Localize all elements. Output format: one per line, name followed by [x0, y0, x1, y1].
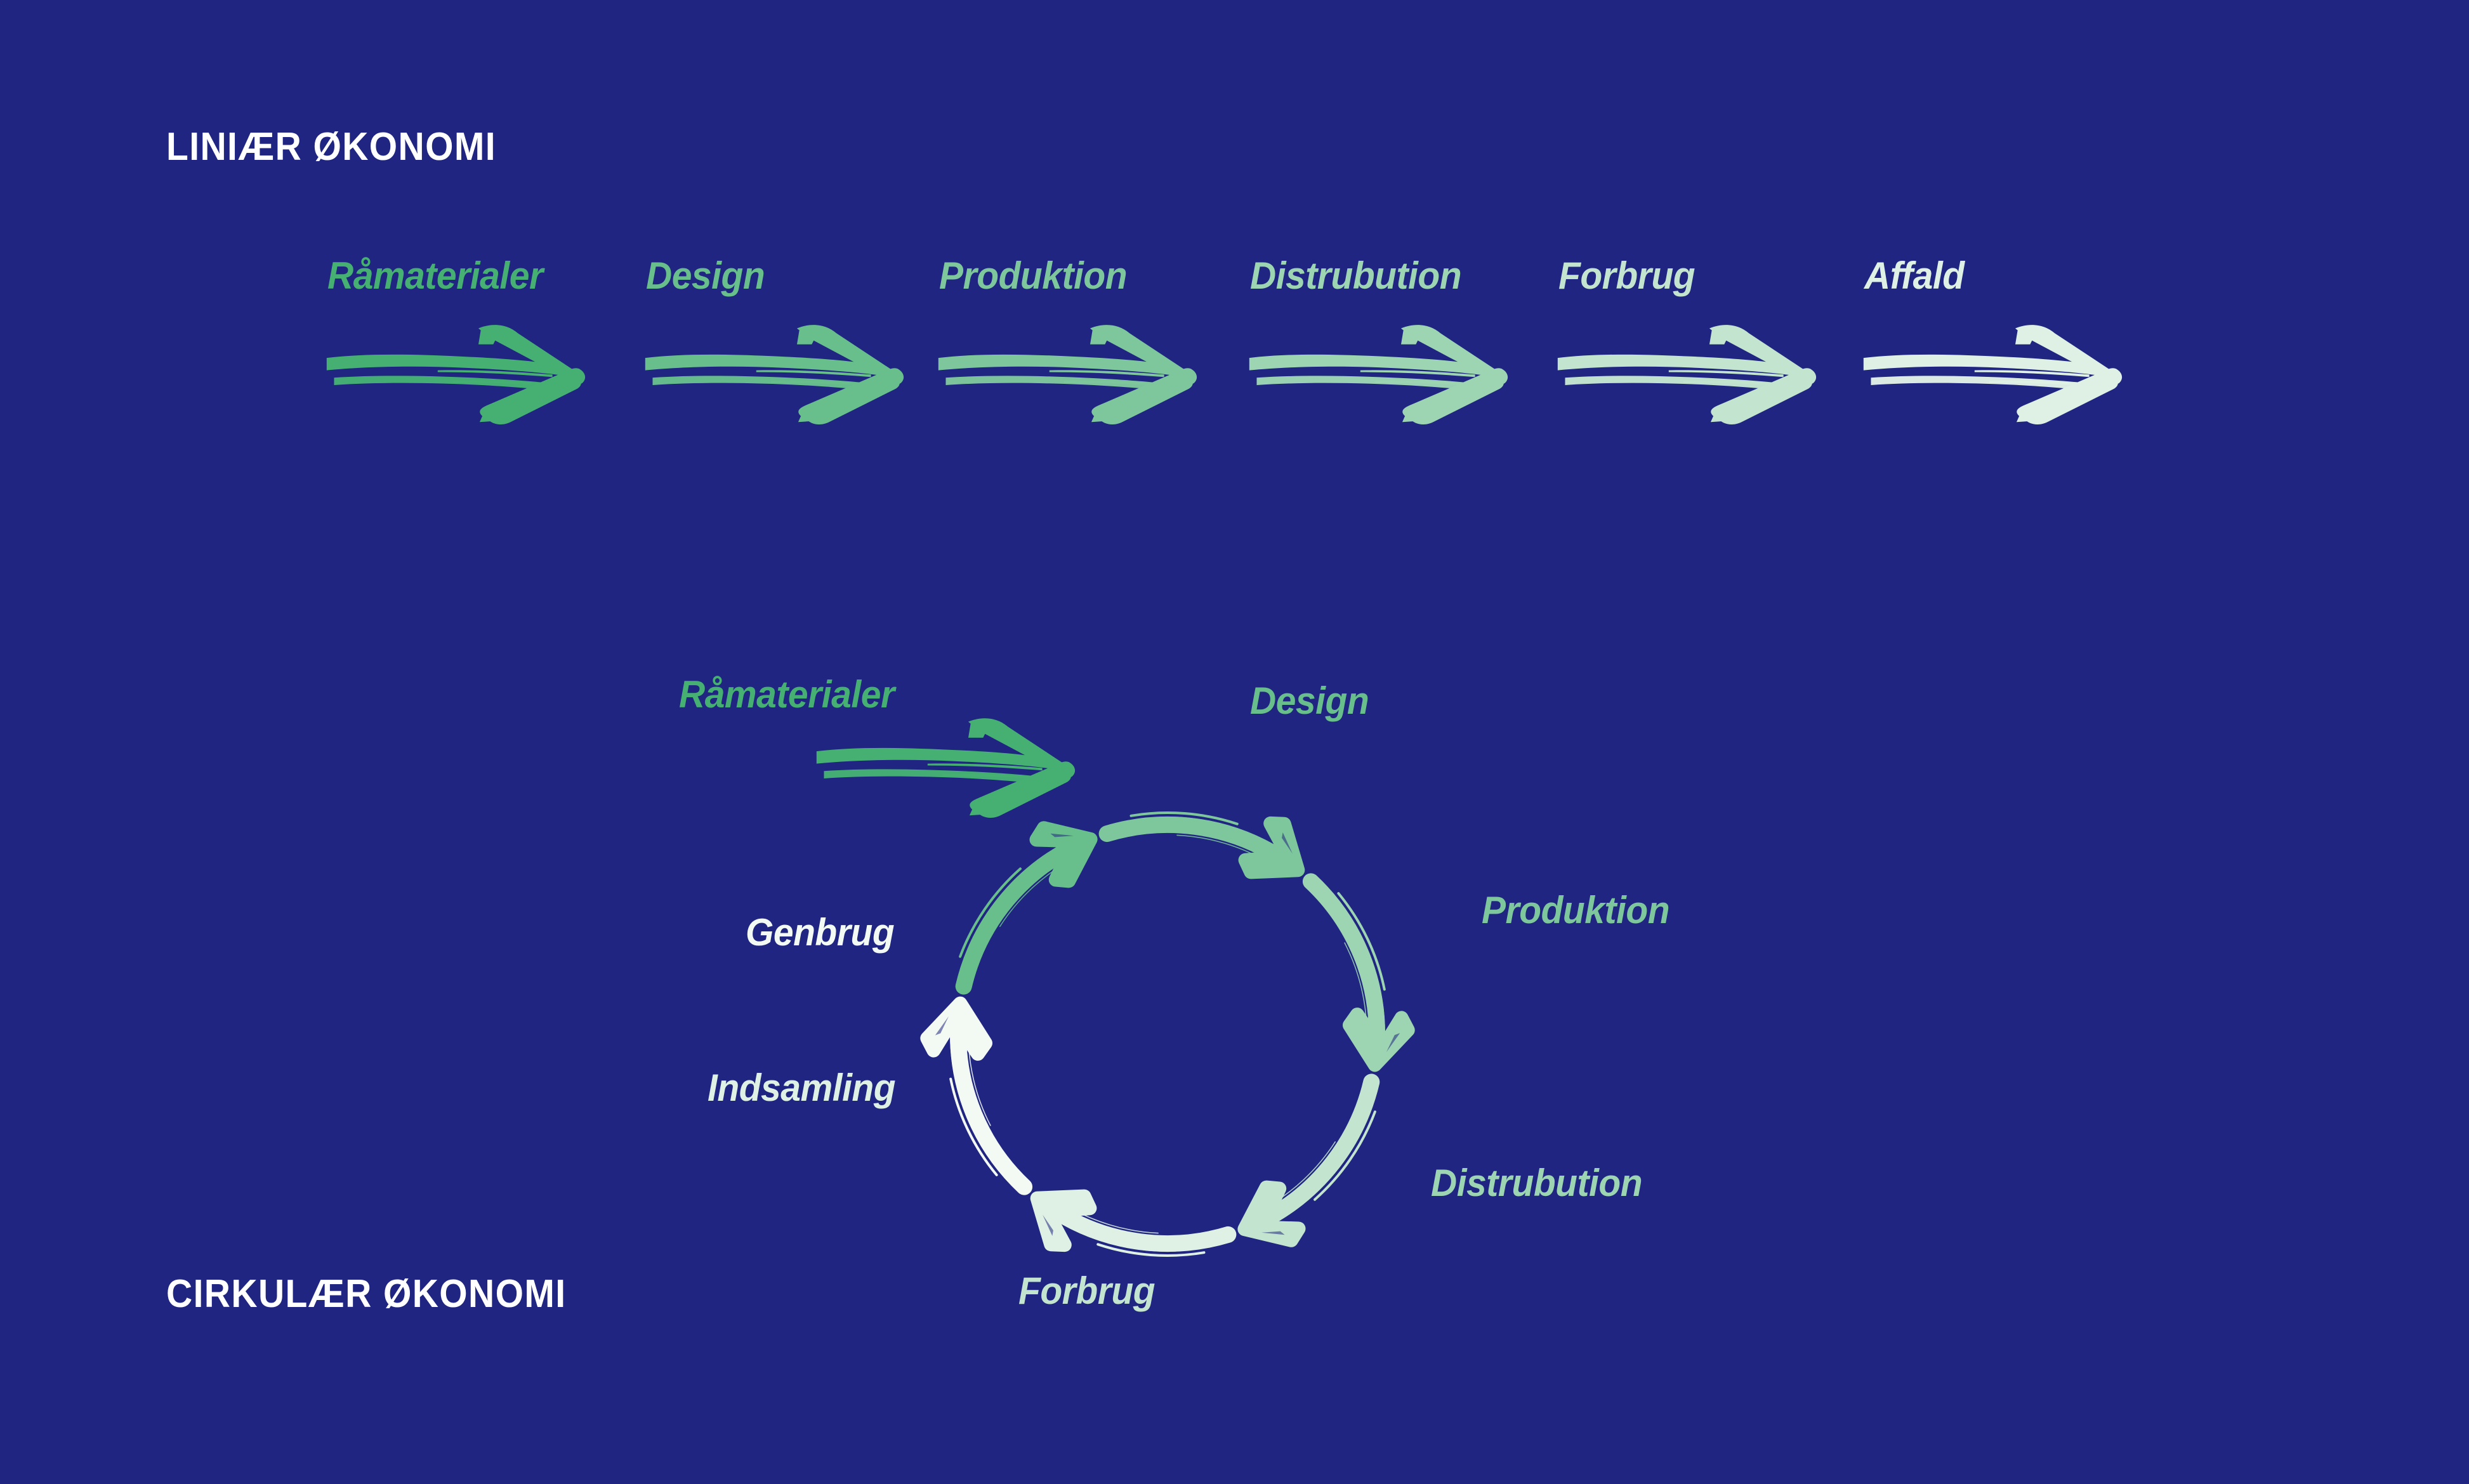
circle-label-forbrug: Forbrug	[1018, 1269, 1155, 1313]
circular-economy-title: CIRKULÆR ØKONOMI	[166, 1271, 566, 1317]
circle-arrow-ring	[812, 692, 1650, 1389]
linear-step-label: Forbrug	[1558, 254, 1695, 298]
linear-economy-row: RåmaterialerDesignProduktionDistrubution…	[0, 0, 2469, 482]
linear-step-label: Distrubution	[1250, 254, 1461, 298]
linear-step-label: Råmaterialer	[327, 254, 543, 298]
circle-arrow-design	[960, 828, 1091, 986]
circular-economy-diagram: RåmaterialerDesignProduktionDistrubution…	[812, 692, 1650, 1389]
circle-label-distrubution: Distrubution	[1431, 1161, 1642, 1205]
circle-label-indsamling: Indsamling	[708, 1066, 895, 1110]
right-arrow-icon	[1859, 317, 2126, 428]
linear-step-label: Produktion	[939, 254, 1127, 298]
right-arrow-icon	[641, 317, 907, 428]
linear-step-label: Affald	[1864, 254, 1965, 298]
right-arrow-icon	[934, 317, 1201, 428]
circle-arrow-forbrug	[1244, 1082, 1374, 1240]
linear-step-label: Design	[646, 254, 765, 298]
circle-label-produktion: Produktion	[1482, 888, 1669, 932]
right-arrow-icon	[322, 317, 589, 428]
circle-arrow-indsamling	[1037, 1197, 1228, 1256]
right-arrow-icon	[1245, 317, 1511, 428]
circle-arrow-distrubution	[1311, 881, 1408, 1065]
circle-arrow-genbrug	[927, 1004, 1024, 1187]
circle-label-design: Design	[1250, 679, 1369, 723]
circle-label-genbrug: Genbrug	[746, 910, 894, 954]
infographic-canvas: LINIÆR ØKONOMI RåmaterialerDesignProdukt…	[0, 0, 2469, 1484]
circle-arrow-produktion	[1107, 813, 1298, 872]
circle-label-ramaterialer: Råmaterialer	[679, 673, 895, 716]
right-arrow-icon	[1553, 317, 1820, 428]
